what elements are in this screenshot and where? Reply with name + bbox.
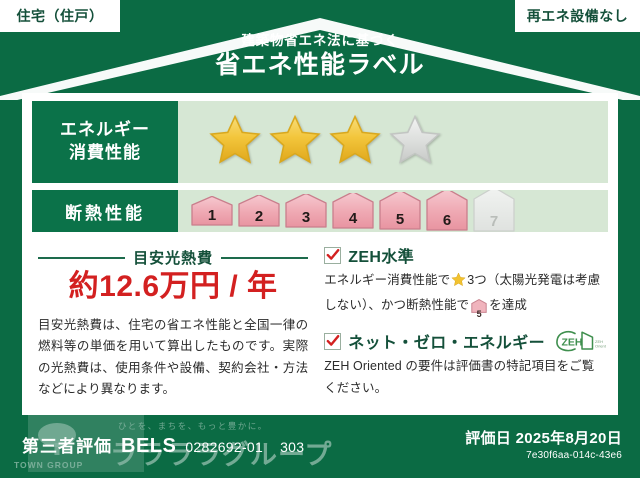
label-card: エネルギー 消費性能 断熱性能 1234567 目安光熱費 約12.6万円 / … bbox=[22, 93, 618, 415]
insulation-house-filled: 2 bbox=[237, 195, 281, 227]
net-zero-block: ネット・ゼロ・エネルギー ZEH ZEH Oriented ZEH Orient… bbox=[324, 329, 606, 399]
insulation-house-filled: 3 bbox=[284, 194, 328, 228]
inline-star-icon bbox=[451, 272, 466, 295]
footer-certification: 第三者評価 BELS 0282692-01 303 bbox=[22, 432, 304, 458]
watermark-tagline: ひとを、まちを、もっと豊かに。 bbox=[118, 420, 268, 432]
certification-number-secondary: 303 bbox=[280, 439, 304, 455]
star-empty bbox=[388, 113, 442, 172]
certification-number: 0282692-01 bbox=[185, 439, 263, 455]
zeh-standard-body: エネルギー消費性能で3つ（太陽光発電は考慮しない）、かつ断熱性能で5を達成 bbox=[324, 270, 606, 320]
label-footer: 第三者評価 BELS 0282692-01 303 評価日 2025年8月20日… bbox=[0, 415, 640, 478]
insulation-house-label: 4 bbox=[331, 211, 375, 226]
watermark-town-group: TOWN GROUP bbox=[14, 460, 83, 470]
zeh-body-part3: を達成 bbox=[489, 298, 527, 312]
insulation-house-label: 5 bbox=[378, 212, 422, 227]
inline-house-level: 5 bbox=[471, 310, 487, 319]
evaluation-date-value: 2025年8月20日 bbox=[516, 430, 622, 447]
zeh-standard-title: ZEH水準 bbox=[348, 243, 414, 267]
star-filled bbox=[268, 113, 322, 172]
footer-evaluation-date: 評価日 2025年8月20日 7e30f6aa-014c-43e6 bbox=[465, 427, 622, 461]
net-zero-title: ネット・ゼロ・エネルギー bbox=[348, 329, 545, 353]
insulation-house-label: 2 bbox=[237, 209, 281, 224]
insulation-house-empty: 7 bbox=[472, 190, 516, 232]
bels-logo-text: BELS bbox=[121, 435, 176, 458]
lower-section: 目安光熱費 約12.6万円 / 年 目安光熱費は、住宅の省エネ性能と全国一律の燃… bbox=[32, 239, 608, 408]
energy-performance-label: エネルギー 消費性能 bbox=[32, 101, 178, 183]
insulation-house-filled: 1 bbox=[190, 196, 234, 226]
evaluation-date-line: 評価日 2025年8月20日 bbox=[465, 427, 622, 448]
star-filled bbox=[328, 113, 382, 172]
insulation-house-label: 3 bbox=[284, 210, 328, 225]
tag-building-type: 住宅（住戸） bbox=[0, 0, 120, 32]
header-subtitle: 建築物省エネ法に基づく bbox=[0, 34, 640, 49]
utility-cost-amount: 約12.6万円 / 年 bbox=[38, 270, 308, 305]
evaluation-hash: 7e30f6aa-014c-43e6 bbox=[465, 450, 622, 461]
energy-star-rating bbox=[178, 101, 608, 183]
rule-right bbox=[221, 257, 308, 259]
insulation-house-filled: 4 bbox=[331, 193, 375, 229]
energy-label-root: 住宅（住戸） 再エネ設備なし 建築物省エネ法に基づく 省エネ性能ラベル エネルギ… bbox=[0, 0, 640, 478]
energy-performance-row: エネルギー 消費性能 bbox=[32, 101, 608, 183]
svg-text:ZEH: ZEH bbox=[562, 337, 583, 349]
zeh-standard-title-row: ZEH水準 bbox=[324, 243, 606, 267]
zeh-section: ZEH水準 エネルギー消費性能で3つ（太陽光発電は考慮しない）、かつ断熱性能で5… bbox=[316, 239, 608, 408]
insulation-house-label: 6 bbox=[425, 213, 469, 228]
insulation-house-label: 1 bbox=[190, 208, 234, 223]
energy-label-line2: 消費性能 bbox=[60, 142, 150, 165]
utility-cost-section: 目安光熱費 約12.6万円 / 年 目安光熱費は、住宅の省エネ性能と全国一律の燃… bbox=[32, 239, 316, 408]
rule-left bbox=[38, 257, 125, 259]
insulation-performance-row: 断熱性能 1234567 bbox=[32, 190, 608, 232]
insulation-level-scale: 1234567 bbox=[178, 190, 608, 232]
energy-label-line1: エネルギー bbox=[60, 119, 150, 142]
tag-renewable-equipment: 再エネ設備なし bbox=[515, 0, 640, 32]
check-icon-zeh-standard bbox=[324, 247, 341, 264]
zeh-standard-block: ZEH水準 エネルギー消費性能で3つ（太陽光発電は考慮しない）、かつ断熱性能で5… bbox=[324, 243, 606, 320]
zeh-body-part1: エネルギー消費性能で bbox=[324, 273, 450, 287]
evaluation-date-label: 評価日 bbox=[465, 430, 511, 447]
net-zero-body: ZEH Oriented の要件は評価書の特記項目をご覧ください。 bbox=[324, 356, 606, 399]
check-icon-net-zero bbox=[324, 333, 341, 350]
insulation-house-filled: 6 bbox=[425, 191, 469, 231]
insulation-house-label: 7 bbox=[472, 214, 516, 229]
insulation-performance-label: 断熱性能 bbox=[32, 190, 178, 232]
net-zero-title-row: ネット・ゼロ・エネルギー ZEH ZEH Oriented bbox=[324, 329, 606, 353]
zeh-oriented-logo: ZEH ZEH Oriented bbox=[552, 329, 606, 353]
utility-cost-heading: 目安光熱費 bbox=[38, 247, 308, 268]
label-header: 建築物省エネ法に基づく 省エネ性能ラベル bbox=[0, 34, 640, 79]
svg-text:Oriented: Oriented bbox=[595, 344, 606, 349]
utility-cost-heading-text: 目安光熱費 bbox=[133, 247, 213, 268]
header-title: 省エネ性能ラベル bbox=[0, 52, 640, 80]
insulation-house-filled: 5 bbox=[378, 192, 422, 230]
star-filled bbox=[208, 113, 262, 172]
third-party-label: 第三者評価 bbox=[22, 432, 112, 457]
inline-house-icon: 5 bbox=[471, 299, 487, 321]
utility-cost-note: 目安光熱費は、住宅の省エネ性能と全国一律の燃料等の単価を用いて算出したものです。… bbox=[38, 315, 308, 401]
